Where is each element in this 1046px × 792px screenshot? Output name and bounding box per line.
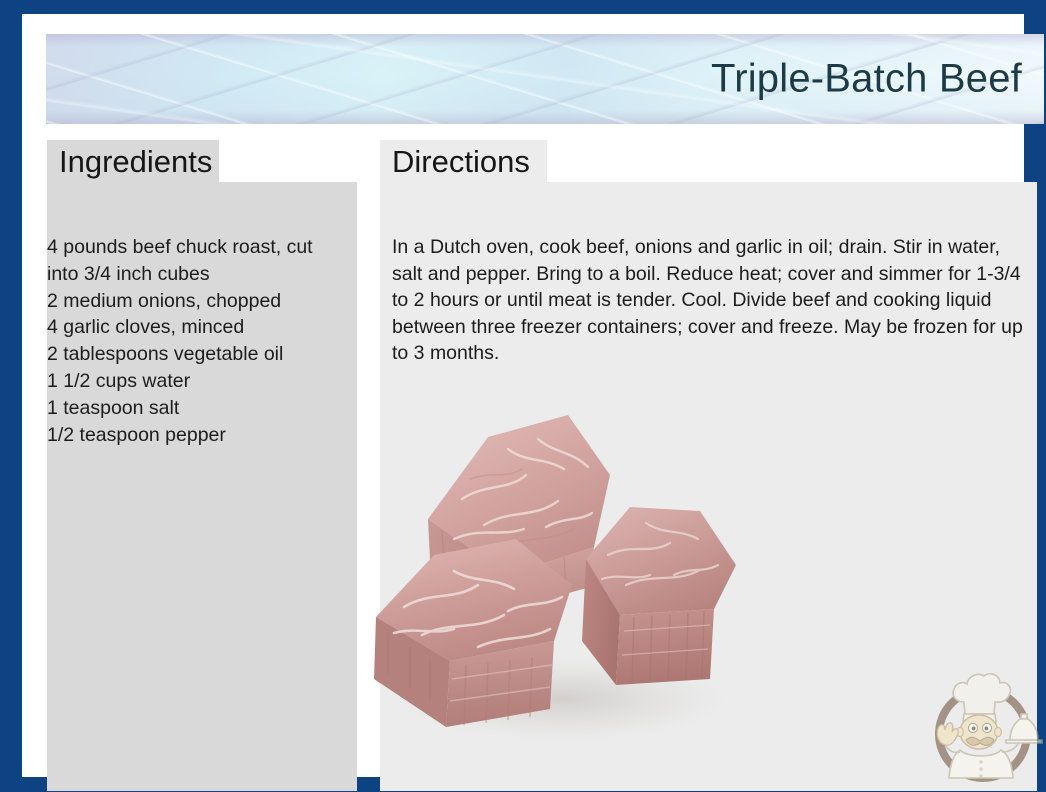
card-page: Triple-Batch Beef Ingredients 4 pounds b…: [22, 14, 1024, 777]
ingredients-tab: Ingredients: [47, 140, 219, 182]
list-item: 2 medium onions, chopped: [47, 288, 349, 315]
list-item: 1 1/2 cups water: [47, 368, 349, 395]
directions-body: In a Dutch oven, cook beef, onions and g…: [380, 182, 1037, 791]
list-item: 4 garlic cloves, minced: [47, 314, 349, 341]
list-item: 2 tablespoons vegetable oil: [47, 341, 349, 368]
directions-tab: Directions: [380, 140, 547, 182]
directions-text: In a Dutch oven, cook beef, onions and g…: [392, 234, 1030, 367]
directions-heading: Directions: [392, 146, 530, 177]
ingredients-body: 4 pounds beef chuck roast, cut into 3/4 …: [47, 182, 357, 791]
directions-panel: Directions In a Dutch oven, cook beef, o…: [380, 140, 1037, 791]
ingredients-list: 4 pounds beef chuck roast, cut into 3/4 …: [47, 234, 357, 448]
header-banner: Triple-Batch Beef: [46, 34, 1044, 124]
list-item: 4 pounds beef chuck roast, cut into 3/4 …: [47, 234, 349, 288]
list-item: 1/2 teaspoon pepper: [47, 422, 349, 449]
ingredients-heading: Ingredients: [59, 146, 212, 177]
ingredients-panel: Ingredients 4 pounds beef chuck roast, c…: [47, 140, 357, 791]
list-item: 1 teaspoon salt: [47, 395, 349, 422]
recipe-title: Triple-Batch Beef: [711, 57, 1022, 102]
recipe-card: Triple-Batch Beef Ingredients 4 pounds b…: [0, 0, 1046, 792]
